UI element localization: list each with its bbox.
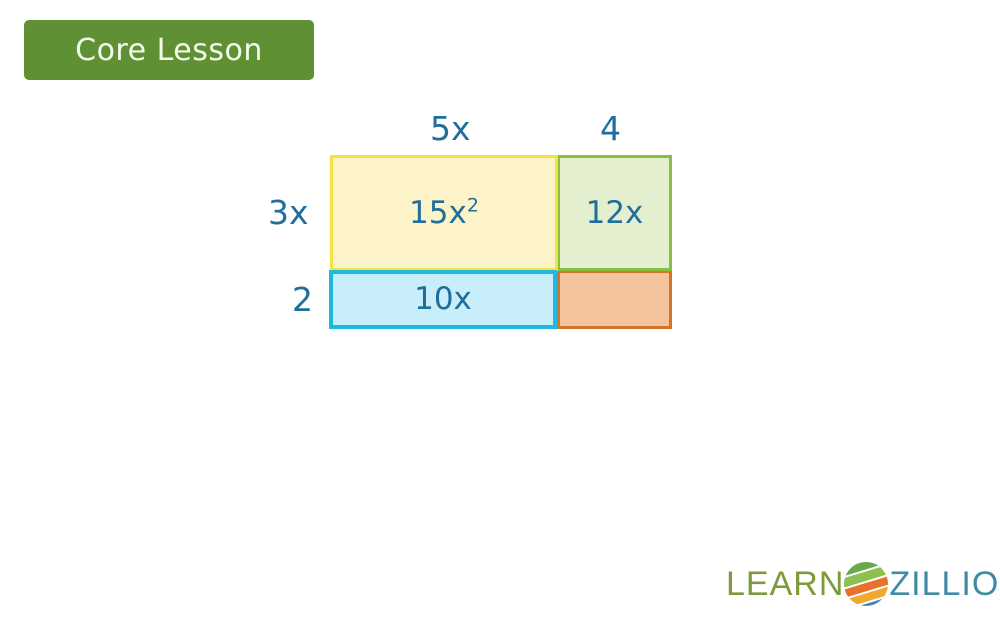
logo-word-learn: LEARN <box>726 567 844 601</box>
cell-bottom-left: 10x <box>329 270 557 329</box>
area-model-diagram: 15x2 12x 10x <box>330 155 672 329</box>
logo-word-zillion: ZILLION <box>889 567 1000 601</box>
column-label-5x: 5x <box>430 112 471 145</box>
cell-top-right-base: 12x <box>586 195 644 231</box>
cell-top-right-label: 12x <box>586 198 644 229</box>
column-label-4: 4 <box>600 112 621 145</box>
cell-top-left-label: 15x2 <box>409 198 479 229</box>
core-lesson-badge-label: Core Lesson <box>75 33 263 68</box>
cell-bottom-right <box>557 270 672 329</box>
core-lesson-badge: Core Lesson <box>24 20 314 80</box>
cell-top-right: 12x <box>557 155 672 271</box>
globe-icon <box>840 558 892 610</box>
row-label-3x: 3x <box>268 196 309 229</box>
learnzillion-logo: LEARN ZILLION <box>726 558 984 610</box>
row-label-2: 2 <box>292 283 313 316</box>
cell-bottom-left-label: 10x <box>414 284 472 315</box>
cell-bottom-left-base: 10x <box>414 281 472 317</box>
cell-top-left-exponent: 2 <box>467 194 479 216</box>
cell-top-left-base: 15x <box>409 195 467 231</box>
cell-top-left: 15x2 <box>330 155 558 271</box>
